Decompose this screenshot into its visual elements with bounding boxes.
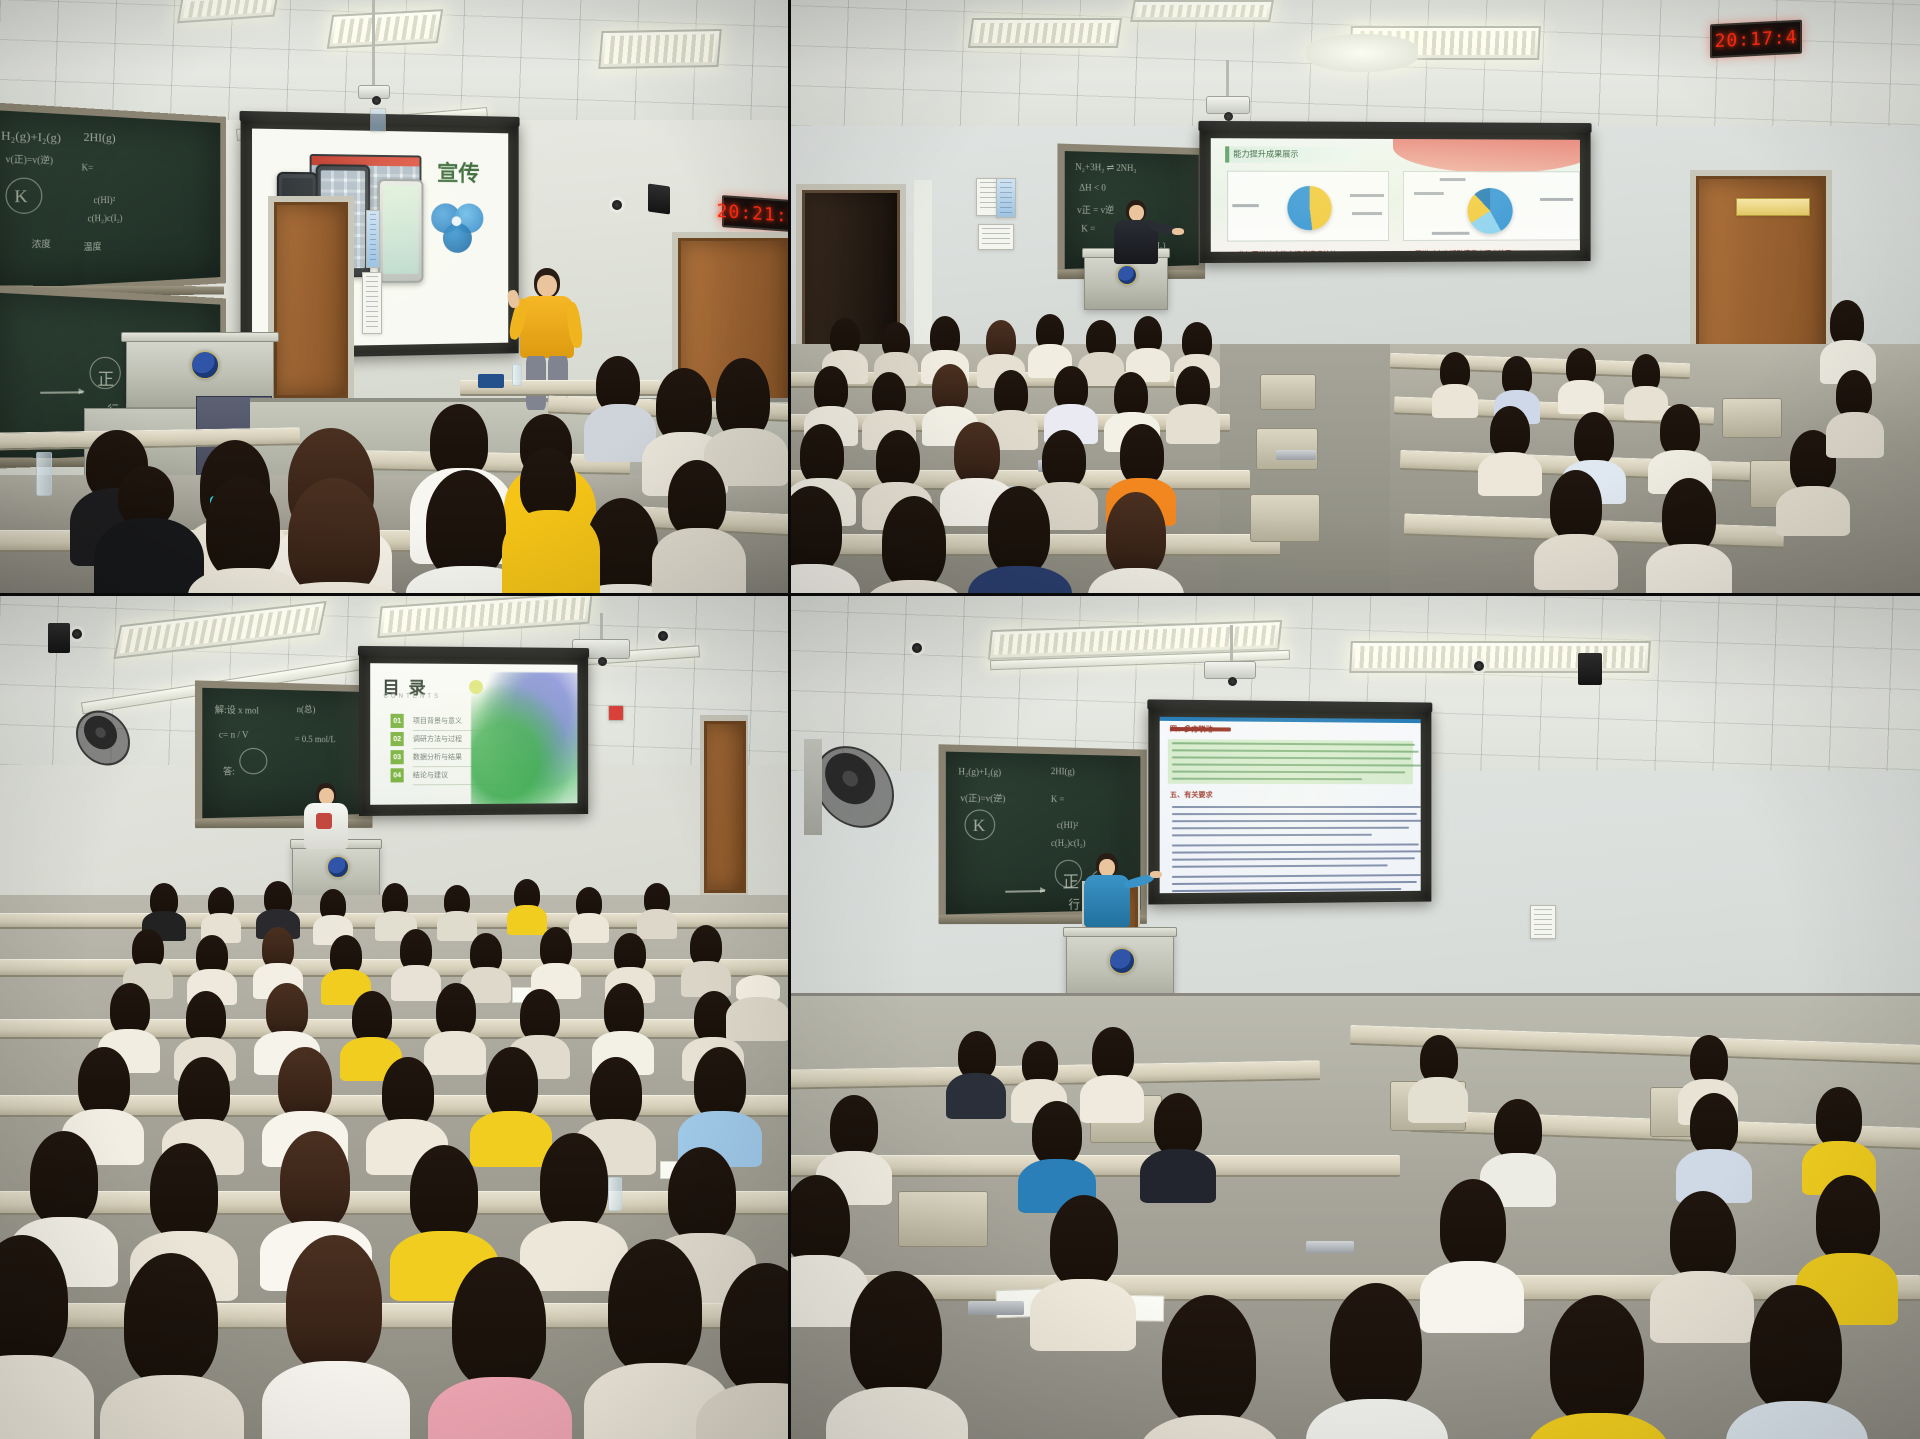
university-crest-icon — [191, 351, 219, 379]
panel-top-left: H₂(g)+I₂(g) 2HI(g) v(正)=v(逆) K= K c(HI)²… — [0, 0, 790, 595]
water-bottle — [608, 1177, 622, 1211]
projector-lens-icon — [372, 96, 381, 105]
presenter-shirt — [520, 296, 574, 358]
toc-item-number: 04 — [391, 768, 404, 782]
tablet-on-desk — [1276, 450, 1316, 460]
wall-notice — [996, 178, 1016, 218]
classroom-door — [704, 721, 746, 893]
fan-bracket — [804, 739, 822, 835]
presenter — [1078, 853, 1138, 945]
security-camera-icon — [612, 200, 622, 210]
slide-text-document: 四、多方联动 五、有关要求 — [1160, 717, 1421, 893]
pie-chart-1 — [1287, 186, 1331, 230]
pie-card-left — [1227, 171, 1389, 242]
panel-bottom-right: H₂(g)+I₂(g) 2HI(g) v(正)=v(逆) K = K c(HI)… — [790, 595, 1920, 1439]
slide-heading-1: 四、多方联动 — [1170, 724, 1213, 734]
wall-notice — [366, 210, 380, 268]
toc-item-number: 01 — [391, 714, 404, 728]
toc-subtitle: CONTENTS — [383, 694, 441, 700]
security-camera-icon — [658, 631, 668, 641]
wall-notice — [362, 272, 382, 334]
presenter-shirt — [1084, 875, 1130, 927]
water-bottle — [512, 364, 522, 386]
slide-headline: 宣传 — [437, 156, 480, 188]
phone-mock-right — [378, 179, 423, 283]
university-crest-icon — [327, 856, 349, 878]
pie-card-right — [1403, 171, 1580, 241]
bag-on-desk — [478, 374, 504, 388]
province-map-graphic — [471, 672, 577, 805]
phone-on-desk — [968, 1301, 1024, 1315]
university-crest-icon — [1109, 948, 1135, 974]
slide-table-of-contents: 目 录 CONTENTS 01 项目背景与意义 02 调研方法与过程 03 数据… — [370, 663, 577, 805]
chalkboard-upper: H₂(g)+I₂(g) 2HI(g) v(正)=v(逆) K= K c(HI)²… — [0, 102, 226, 298]
digital-clock: 20:17:4 — [1710, 20, 1802, 59]
slide-pie-charts: 能力提升成果展示 参与同学综合能力提升情况统计 — [1211, 138, 1580, 252]
presenter — [1108, 200, 1166, 278]
wall-speaker — [648, 183, 670, 214]
toc-item-label: 结论与建议 — [413, 770, 448, 780]
pie-chart-2 — [1467, 188, 1512, 234]
door-sign — [1736, 198, 1810, 216]
pie-caption-1: 参与同学综合能力提升情况统计 — [1237, 249, 1336, 252]
classroom-door — [274, 202, 348, 398]
toc-item-number: 02 — [391, 732, 404, 746]
projection-screen: 目 录 CONTENTS 01 项目背景与意义 02 调研方法与过程 03 数据… — [359, 652, 588, 816]
projection-screen: 四、多方联动 五、有关要求 — [1148, 705, 1431, 904]
dome-light — [1306, 34, 1418, 72]
clock-time: 20:17:4 — [1715, 26, 1798, 51]
wall-speaker — [1578, 653, 1602, 685]
clock-time: 20:21:39 — [717, 200, 790, 228]
shirt-logo — [316, 813, 332, 829]
wall-notice — [1530, 905, 1556, 939]
ceiling-light-panel — [327, 9, 444, 49]
phone-on-desk — [1306, 1241, 1354, 1253]
panel-top-right: N₂+3H₂ ⇌ 2NH₃ ΔH < 0 v正 = v逆 K = c²(NH₃)… — [790, 0, 1920, 595]
security-camera-icon — [72, 629, 82, 639]
pie-caption-2: 同学对本次活动满意度调查结果 — [1415, 249, 1512, 252]
slide-heading-2: 五、有关要求 — [1170, 790, 1213, 800]
wall-notice — [978, 224, 1014, 250]
presenter — [300, 783, 356, 859]
ceiling-light-panel — [598, 29, 722, 69]
toc-item-label: 数据分析与结果 — [413, 752, 462, 762]
security-camera-icon — [1474, 661, 1484, 671]
water-bottle — [36, 452, 52, 496]
digital-clock: 20:21:39 — [722, 195, 790, 233]
toc-item-number: 03 — [391, 750, 404, 764]
emergency-sign — [608, 705, 624, 721]
projection-screen: 能力提升成果展示 参与同学综合能力提升情况统计 — [1199, 127, 1590, 263]
toc-item-label: 调研方法与过程 — [413, 734, 462, 744]
wall-speaker — [48, 623, 70, 653]
slide-header-text: 能力提升成果展示 — [1233, 148, 1298, 159]
security-camera-icon — [912, 643, 922, 653]
photo-collage: H₂(g)+I₂(g) 2HI(g) v(正)=v(逆) K= K c(HI)²… — [0, 0, 1920, 1439]
toc-item-label: 项目背景与意义 — [413, 716, 462, 726]
projector-rod — [372, 0, 375, 88]
panel-bottom-left: 解:设 x mol n(总) c= n / V = 0.5 mol/L 答: 目… — [0, 595, 790, 1439]
